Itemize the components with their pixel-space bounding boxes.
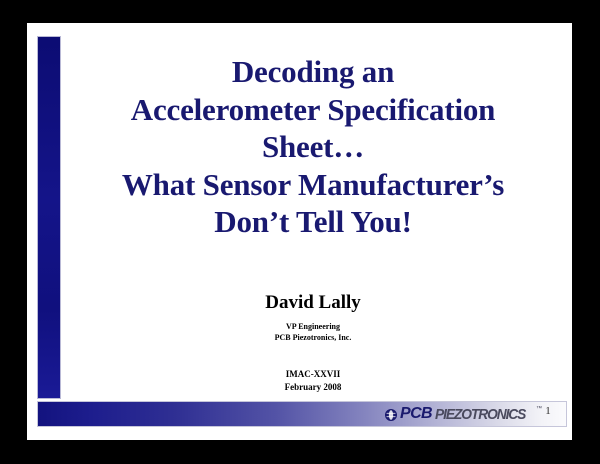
title-line-5: Don’t Tell You! — [77, 203, 549, 241]
pcb-globe-icon — [385, 408, 397, 420]
author-company: PCB Piezotronics, Inc. — [77, 332, 549, 344]
title-line-4: What Sensor Manufacturer’s — [77, 166, 549, 204]
title-line-3: Sheet… — [77, 128, 549, 166]
decorative-vertical-accent-bar — [37, 36, 61, 399]
author-role: VP Engineering — [77, 321, 549, 333]
slide-canvas: Decoding an Accelerometer Specification … — [27, 23, 572, 440]
conference-name: IMAC-XXVII — [77, 368, 549, 382]
pcb-piezotronics-logo: PCB PIEZOTRONICS ™ — [385, 404, 542, 424]
title-line-2: Accelerometer Specification — [77, 91, 549, 129]
author-block: David Lally VP Engineering PCB Piezotron… — [77, 291, 549, 395]
slide-page-number: 1 — [540, 405, 556, 417]
logo-brand-piezotronics: PIEZOTRONICS — [435, 407, 525, 422]
presentation-date: February 2008 — [77, 381, 549, 395]
author-name: David Lally — [77, 291, 549, 315]
title-line-1: Decoding an — [77, 53, 549, 91]
slide-outer-frame: Decoding an Accelerometer Specification … — [0, 0, 600, 464]
logo-brand-pcb: PCB — [400, 406, 432, 422]
slide-title: Decoding an Accelerometer Specification … — [77, 53, 549, 241]
